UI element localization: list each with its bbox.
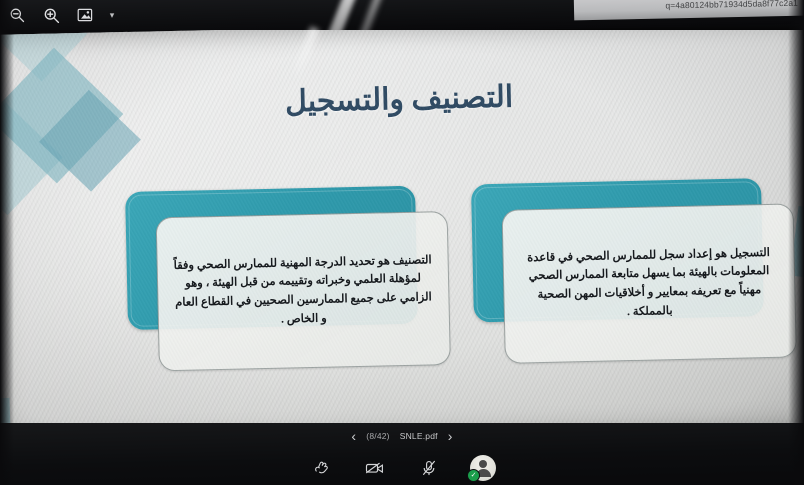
- fit-page-icon[interactable]: [68, 0, 102, 30]
- card-classification[interactable]: التصنيف هو تحديد الدرجة المهنية للممارس …: [125, 185, 449, 377]
- file-name: SNLE.pdf: [400, 431, 438, 441]
- reactions-icon[interactable]: [308, 457, 334, 479]
- viewer-toolbar: q=4a80124bb71934d5da8f77c2a1: [0, 0, 804, 30]
- card-body: التسجيل هو إعداد سجل للممارس الصحي في قا…: [502, 203, 797, 363]
- mic-off-icon[interactable]: [416, 457, 442, 479]
- pdf-pager: ‹ (8/42) SNLE.pdf ›: [0, 429, 804, 443]
- zoom-menu-caret-icon[interactable]: ▾: [102, 0, 122, 30]
- pen-menu-caret-icon[interactable]: ▾: [750, 24, 770, 30]
- page-counter: (8/42): [366, 431, 389, 441]
- card-body: التصنيف هو تحديد الدرجة المهنية للممارس …: [156, 211, 451, 371]
- zoom-in-icon[interactable]: [34, 0, 68, 30]
- slide-title: التصنيف والتسجيل: [0, 73, 804, 126]
- pen-icon[interactable]: [716, 24, 750, 30]
- avatar-head: [479, 460, 487, 468]
- meeting-tray: ✓: [0, 455, 804, 481]
- meeting-bottom-bar: ‹ (8/42) SNLE.pdf ›: [0, 423, 804, 485]
- prev-page-icon[interactable]: ‹: [351, 429, 356, 443]
- card-text-classification: التصنيف هو تحديد الدرجة المهنية للممارس …: [157, 245, 449, 338]
- text-tool-icon[interactable]: T: [770, 24, 804, 30]
- toolbar-right-group: ▾ T: [716, 22, 804, 30]
- toolbar-left-group: ▾: [0, 0, 122, 30]
- presentation-slide[interactable]: التصنيف والتسجيل التصنيف هو تحديد الدرجة…: [0, 17, 804, 447]
- camera-off-icon[interactable]: [362, 457, 388, 479]
- photographed-screen: التصنيف والتسجيل التصنيف هو تحديد الدرجة…: [0, 0, 804, 485]
- status-badge: ✓: [467, 469, 480, 482]
- next-page-icon[interactable]: ›: [448, 429, 453, 443]
- card-registration[interactable]: التسجيل هو إعداد سجل للممارس الصحي في قا…: [471, 178, 795, 370]
- card-text-registration: التسجيل هو إعداد سجل للممارس الصحي في قا…: [503, 237, 795, 330]
- screenshot-root: التصنيف والتسجيل التصنيف هو تحديد الدرجة…: [0, 0, 804, 485]
- avatar[interactable]: ✓: [470, 455, 496, 481]
- zoom-out-icon[interactable]: [0, 0, 34, 30]
- url-text: q=4a80124bb71934d5da8f77c2a1: [665, 0, 798, 10]
